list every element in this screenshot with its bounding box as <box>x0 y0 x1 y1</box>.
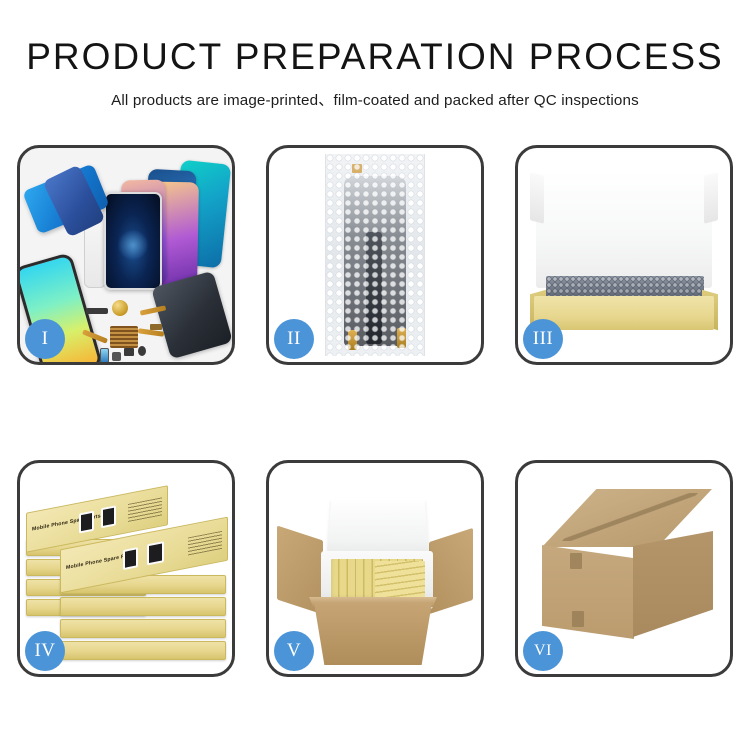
carton-right-face <box>633 531 713 637</box>
carton-flap-right <box>429 528 473 614</box>
box-label-window <box>79 511 94 534</box>
process-step-panel-3: III <box>515 145 733 365</box>
camera-module-part <box>124 348 134 356</box>
page-title: PRODUCT PREPARATION PROCESS <box>0 38 750 77</box>
step-badge-2: II <box>274 319 314 359</box>
stacked-box <box>60 619 226 638</box>
carton-left-face <box>542 545 634 639</box>
wrapped-gold-contact <box>397 328 406 348</box>
bag-seal-tape <box>352 164 362 173</box>
process-step-panel-1: I <box>17 145 235 365</box>
box-label-window <box>147 541 164 565</box>
wrapped-flex-cable <box>366 232 382 344</box>
process-step-panel-2: II <box>266 145 484 365</box>
process-step-panel-6: VI <box>515 460 733 677</box>
bubble-wrap-bag <box>325 154 425 356</box>
box-label-window <box>123 547 138 570</box>
carton-tape-mark <box>572 611 584 627</box>
process-step-grid: I II <box>17 145 733 677</box>
page-header: PRODUCT PREPARATION PROCESS All products… <box>0 0 750 110</box>
step-badge-5: V <box>274 631 314 671</box>
carton-tape-mark <box>570 553 582 569</box>
small-lcd-part <box>100 348 109 362</box>
box-label-spec-lines <box>188 531 222 556</box>
stacked-box <box>60 641 226 660</box>
carton-front-panel <box>309 603 437 665</box>
process-step-panel-5: V <box>266 460 484 677</box>
step-badge-1: I <box>25 319 65 359</box>
foam-lid <box>536 170 712 288</box>
button-part <box>138 346 146 356</box>
kraft-box-front <box>534 296 714 330</box>
step-badge-6: VI <box>523 631 563 671</box>
phone-back-chassis <box>151 271 232 360</box>
battery-connector-part <box>86 308 108 314</box>
box-label-spec-lines <box>128 497 162 522</box>
stacked-box <box>60 597 226 616</box>
step-badge-4: IV <box>25 631 65 671</box>
step-badge-3: III <box>523 319 563 359</box>
antenna-part <box>150 324 162 330</box>
yellow-boxes-inside <box>375 561 425 599</box>
wrapped-gold-contact <box>348 330 357 350</box>
box-label-window <box>101 505 116 528</box>
process-step-panel-4: Mobile Phone Spare Parts Mobile Phone Sp… <box>17 460 235 677</box>
ic-chip-part <box>112 352 121 361</box>
tempered-glass-screen <box>104 192 162 290</box>
vibration-motor-part <box>112 300 128 316</box>
product-preparation-page: PRODUCT PREPARATION PROCESS All products… <box>0 0 750 750</box>
page-subtitle: All products are image-printed、film-coat… <box>0 88 750 110</box>
speaker-grille-part <box>110 326 138 348</box>
